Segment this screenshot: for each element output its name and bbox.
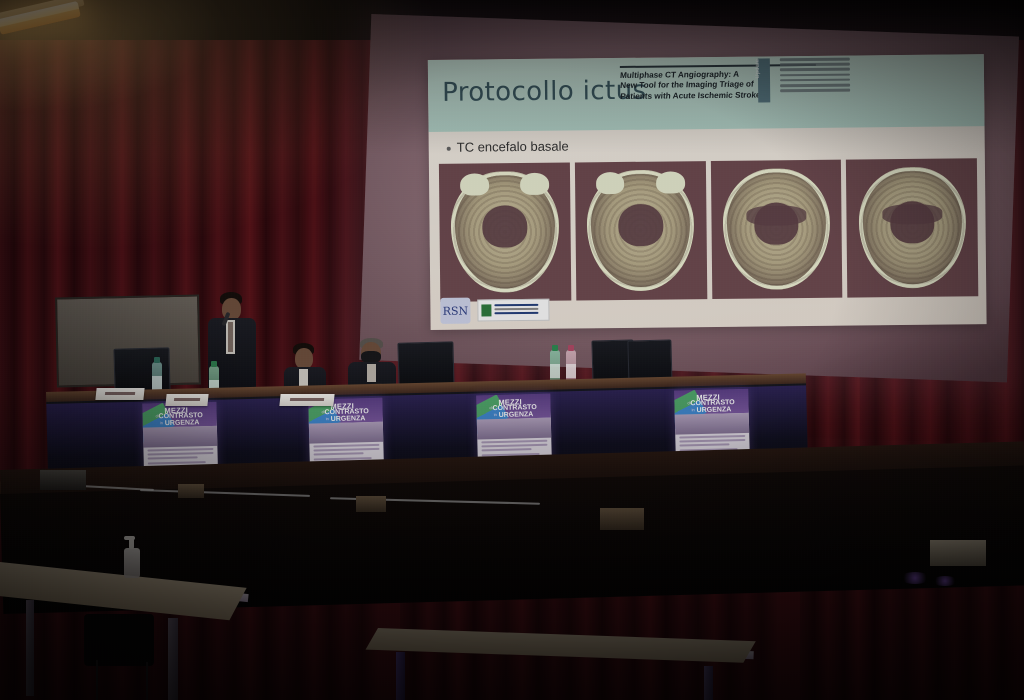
ct-slice-4 [846, 158, 978, 297]
ct-slice-2 [575, 161, 707, 300]
table-leg-left [396, 652, 405, 700]
bullet-dot [447, 146, 451, 150]
ct-slice-3 [710, 160, 842, 299]
article-tab-label: Update [755, 66, 761, 78]
poster-small2: in [326, 416, 329, 421]
slide-footer-logos: RSN [440, 297, 549, 324]
stage-light-purple-1 [900, 572, 930, 584]
name-placard-2 [165, 394, 208, 406]
poster-small2: in [160, 420, 163, 425]
ct-slice-1 [439, 163, 571, 302]
conference-hall-photo: Protocollo ictus Multiphase CT Angiograp… [0, 0, 1024, 700]
stage-equipment [40, 470, 86, 490]
stage-box-1 [178, 484, 204, 498]
stage-box-2 [356, 496, 386, 512]
slide-bullet-text: TC encefalo basale [457, 139, 569, 155]
ventricle [890, 201, 935, 243]
stage-box-4 [930, 540, 986, 566]
table-leg-right [168, 618, 178, 700]
stage-box-3 [600, 508, 644, 530]
chair-1 [84, 614, 154, 666]
slide-header-band: Protocollo ictus Multiphase CT Angiograp… [428, 54, 985, 132]
table-leg-right [704, 666, 713, 700]
screen-surface: Protocollo ictus Multiphase CT Angiograp… [359, 14, 1019, 382]
presentation-slide: Protocollo ictus Multiphase CT Angiograp… [428, 54, 987, 330]
article-authors [780, 58, 850, 95]
orbit-right [520, 172, 549, 194]
ventricle [754, 203, 799, 245]
panelist2-shirt [367, 364, 376, 382]
article-tab: Update [758, 58, 770, 102]
slide-title: Protocollo ictus [442, 76, 647, 108]
poster-small2: in [494, 412, 497, 417]
orbit-right [656, 171, 685, 193]
front-table-right [374, 620, 764, 700]
stage-light-purple-2 [932, 576, 958, 586]
rsna-logo: RSN [440, 298, 470, 324]
chair-leg-1 [96, 660, 98, 700]
panelist1-head [295, 348, 313, 369]
name-placard-3 [279, 394, 334, 406]
table-surface [366, 628, 756, 663]
slide-bullet: TC encefalo basale [447, 139, 569, 155]
panelist1-shirt [299, 369, 308, 387]
hospital-logo [477, 299, 549, 322]
ventricle [618, 204, 663, 246]
name-placard-1 [95, 388, 144, 400]
logo-text-lines [494, 304, 538, 316]
chair-leg-2 [146, 662, 148, 700]
table-leg-left [26, 600, 34, 696]
sanitizer-body [124, 548, 140, 578]
hand-sanitizer-bottle [124, 538, 140, 578]
sanitizer-nozzle [124, 536, 135, 540]
ct-image-row [439, 158, 978, 302]
ventricle [482, 206, 527, 248]
speaker-tie [228, 322, 233, 352]
projection-screen: Protocollo ictus Multiphase CT Angiograp… [359, 0, 1024, 387]
orbit-left [596, 172, 625, 194]
orbit-left [460, 173, 489, 195]
poster-small2: in [692, 407, 695, 412]
logo-mark [481, 304, 491, 316]
